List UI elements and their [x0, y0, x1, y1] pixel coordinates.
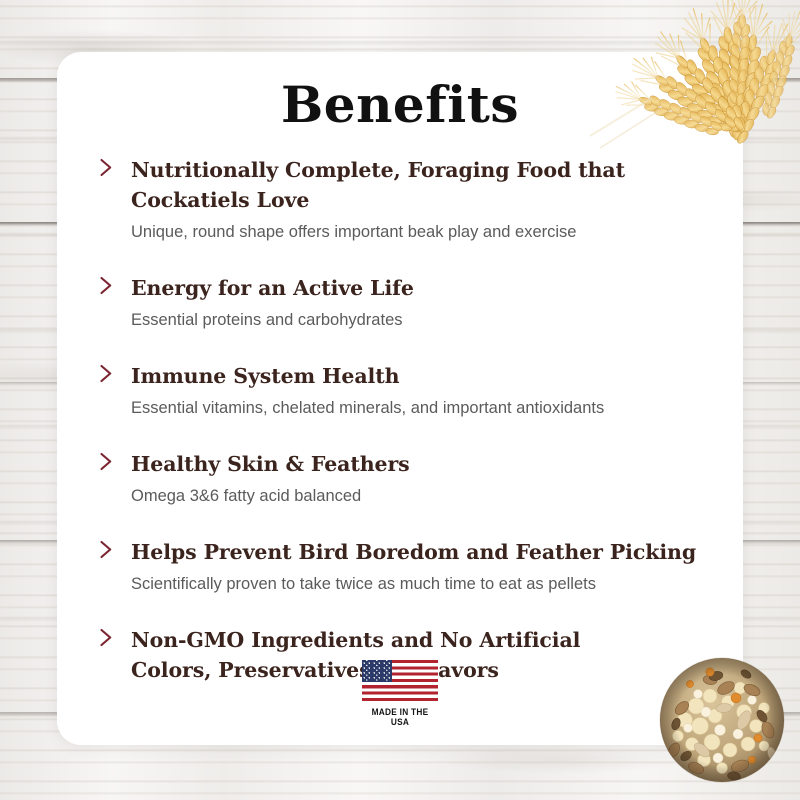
chevron-right-icon — [98, 276, 115, 295]
chevron-right-icon — [98, 628, 115, 647]
benefit-title: Immune System Health — [131, 361, 717, 391]
chevron-right-icon — [98, 364, 115, 383]
list-item: Immune System Health Essential vitamins,… — [98, 361, 717, 421]
benefit-subtitle: Essential vitamins, chelated minerals, a… — [131, 395, 717, 421]
benefit-title: Healthy Skin & Feathers — [131, 449, 717, 479]
benefit-title: Energy for an Active Life — [131, 273, 717, 303]
benefit-subtitle: Unique, round shape offers important bea… — [131, 219, 717, 245]
benefits-card: Benefits Nutritionally Complete, Foragin… — [57, 52, 743, 745]
made-in-usa-badge: MADE IN THE USA — [358, 660, 442, 727]
benefits-list: Nutritionally Complete, Foraging Food th… — [98, 155, 717, 685]
chevron-right-icon — [98, 540, 115, 559]
usa-flag-icon — [362, 660, 438, 701]
list-item: Nutritionally Complete, Foraging Food th… — [98, 155, 717, 245]
benefit-title: Helps Prevent Bird Boredom and Feather P… — [131, 537, 717, 567]
list-item: Healthy Skin & Feathers Omega 3&6 fatty … — [98, 449, 717, 509]
benefit-title: Nutritionally Complete, Foraging Food th… — [131, 155, 717, 215]
page-title: Benefits — [57, 75, 743, 134]
list-item: Helps Prevent Bird Boredom and Feather P… — [98, 537, 717, 597]
chevron-right-icon — [98, 452, 115, 471]
poster-canvas: Benefits Nutritionally Complete, Foragin… — [0, 0, 800, 800]
made-in-usa-label: MADE IN THE USA — [361, 707, 438, 727]
chevron-right-icon — [98, 158, 115, 177]
benefit-subtitle: Scientifically proven to take twice as m… — [131, 571, 717, 597]
list-item: Energy for an Active Life Essential prot… — [98, 273, 717, 333]
benefit-subtitle: Essential proteins and carbohydrates — [131, 307, 717, 333]
flag-canton — [362, 660, 392, 682]
benefit-subtitle: Omega 3&6 fatty acid balanced — [131, 483, 717, 509]
flag-stars — [362, 660, 392, 682]
